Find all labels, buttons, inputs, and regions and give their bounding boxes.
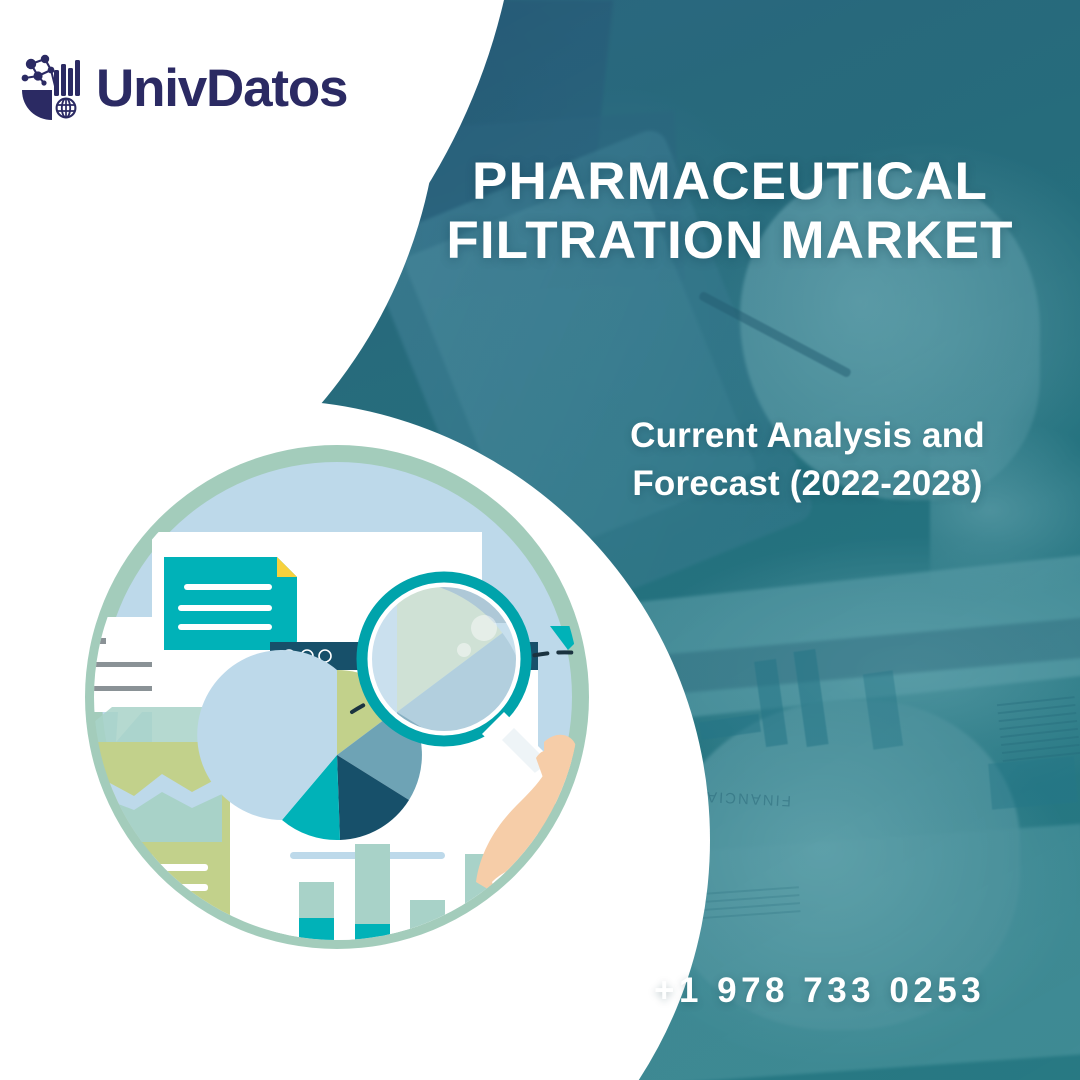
subtitle-line-2: Forecast (2022-2028)	[575, 460, 1040, 508]
note-line-2	[178, 605, 272, 611]
page-subtitle: Current Analysis and Forecast (2022-2028…	[575, 412, 1040, 509]
phone-number: +1 978 733 0253	[654, 971, 985, 1011]
line-chart-path	[518, 948, 622, 982]
bubble-line-2	[88, 686, 156, 691]
line-card-header	[504, 894, 622, 908]
page-title: PHARMACEUTICAL FILTRATION MARKET	[420, 152, 1040, 271]
line-card-grid	[504, 908, 622, 982]
title-line-1: PHARMACEUTICAL	[420, 152, 1040, 211]
contact-phone[interactable]: +1 978 733 0253	[582, 965, 985, 1017]
subtitle-line-1: Current Analysis and	[575, 412, 1040, 460]
network-bars-globe-icon	[18, 52, 88, 124]
brand-name: UnivDatos	[96, 62, 347, 115]
note-line-3	[178, 624, 272, 630]
bubble-line-1	[94, 662, 156, 667]
line-chart-card-icon	[504, 894, 622, 982]
title-line-2: FILTRATION MARKET	[420, 211, 1040, 270]
poster-canvas: FINANCIA	[0, 0, 1080, 1080]
note-line-1	[184, 584, 272, 590]
market-research-analytics-illustration	[52, 412, 622, 982]
brand-logo[interactable]: UnivDatos	[18, 52, 347, 124]
line-chart-markers	[511, 941, 622, 982]
